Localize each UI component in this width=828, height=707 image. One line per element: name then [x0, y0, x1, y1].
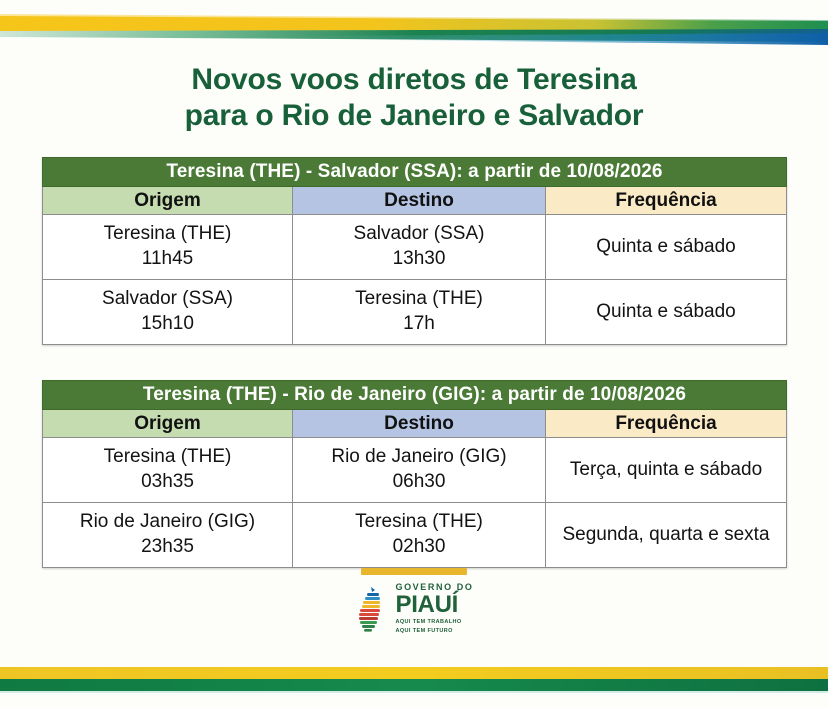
origem-time: 23h35 [47, 534, 288, 559]
government-logo: GOVERNO DO PIAUÍ AQUI TEM TRABALHO AQUI … [0, 568, 828, 635]
column-header-destino: Destino [293, 410, 546, 438]
table-banner-salvador: Teresina (THE) - Salvador (SSA): a parti… [43, 158, 787, 187]
logo-state-label: PIAUÍ [395, 593, 473, 617]
column-header-origem: Origem [43, 187, 293, 215]
table-row: Teresina (THE) 11h45 Salvador (SSA) 13h3… [43, 215, 787, 280]
table-banner-row: Teresina (THE) - Rio de Janeiro (GIG): a… [43, 381, 787, 410]
origem-place: Teresina (THE) [47, 444, 288, 469]
origem-place: Rio de Janeiro (GIG) [47, 509, 288, 534]
bottom-ribbon-decoration [0, 645, 828, 707]
page-title-line-1: Novos voos diretos de Teresina [0, 62, 828, 98]
origem-time: 15h10 [47, 311, 288, 336]
cell-destino: Teresina (THE) 02h30 [293, 503, 546, 568]
destino-place: Salvador (SSA) [297, 221, 541, 246]
page-title-line-2: para o Rio de Janeiro e Salvador [0, 98, 828, 134]
cell-frequencia: Quinta e sábado [546, 280, 787, 345]
top-ribbon-svg [0, 0, 828, 56]
cell-origem: Teresina (THE) 11h45 [43, 215, 293, 280]
table-banner-rio: Teresina (THE) - Rio de Janeiro (GIG): a… [43, 381, 787, 410]
origem-place: Teresina (THE) [47, 221, 288, 246]
logo-row: GOVERNO DO PIAUÍ AQUI TEM TRABALHO AQUI … [354, 583, 473, 635]
column-header-origem: Origem [43, 410, 293, 438]
cell-frequencia: Terça, quinta e sábado [546, 438, 787, 503]
table-row: Rio de Janeiro (GIG) 23h35 Teresina (THE… [43, 503, 787, 568]
destino-time: 06h30 [297, 469, 541, 494]
table-header-row: Origem Destino Frequência [43, 187, 787, 215]
destino-time: 13h30 [297, 246, 541, 271]
cell-origem: Teresina (THE) 03h35 [43, 438, 293, 503]
destino-time: 17h [297, 311, 541, 336]
destino-place: Teresina (THE) [297, 286, 541, 311]
table-row: Salvador (SSA) 15h10 Teresina (THE) 17h … [43, 280, 787, 345]
slide-canvas: Novos voos diretos de Teresina para o Ri… [0, 0, 828, 707]
page-title: Novos voos diretos de Teresina para o Ri… [0, 62, 828, 134]
bottom-ribbon-svg [0, 645, 828, 707]
cell-destino: Salvador (SSA) 13h30 [293, 215, 546, 280]
destino-place: Rio de Janeiro (GIG) [297, 444, 541, 469]
cell-origem: Salvador (SSA) 15h10 [43, 280, 293, 345]
flight-table-salvador: Teresina (THE) - Salvador (SSA): a parti… [42, 157, 787, 345]
top-ribbon-decoration [0, 0, 828, 56]
cell-frequencia: Quinta e sábado [546, 215, 787, 280]
column-header-frequencia: Frequência [546, 410, 787, 438]
cell-origem: Rio de Janeiro (GIG) 23h35 [43, 503, 293, 568]
origem-place: Salvador (SSA) [47, 286, 288, 311]
table-row: Teresina (THE) 03h35 Rio de Janeiro (GIG… [43, 438, 787, 503]
table-header-row: Origem Destino Frequência [43, 410, 787, 438]
flight-table-rio: Teresina (THE) - Rio de Janeiro (GIG): a… [42, 380, 787, 568]
logo-tagline-line-2: AQUI TEM FUTURO [395, 628, 473, 635]
origem-time: 03h35 [47, 469, 288, 494]
logo-tagline-line-1: AQUI TEM TRABALHO [395, 619, 473, 626]
column-header-frequencia: Frequência [546, 187, 787, 215]
column-header-destino: Destino [293, 187, 546, 215]
cell-destino: Teresina (THE) 17h [293, 280, 546, 345]
table-banner-row: Teresina (THE) - Salvador (SSA): a parti… [43, 158, 787, 187]
cell-destino: Rio de Janeiro (GIG) 06h30 [293, 438, 546, 503]
destino-place: Teresina (THE) [297, 509, 541, 534]
piaui-state-map-icon [354, 586, 388, 632]
destino-time: 02h30 [297, 534, 541, 559]
origem-time: 11h45 [47, 246, 288, 271]
cell-frequencia: Segunda, quarta e sexta [546, 503, 787, 568]
logo-divider-rule [361, 568, 467, 575]
logo-text-block: GOVERNO DO PIAUÍ AQUI TEM TRABALHO AQUI … [395, 583, 473, 635]
